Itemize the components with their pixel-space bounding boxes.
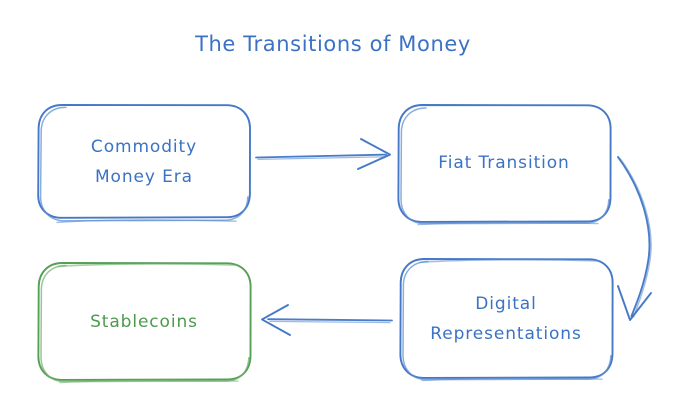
node-fiat-transition[interactable]: Fiat Transition [398,104,611,225]
connector-click-target[interactable] [254,136,394,172]
node-click-target[interactable] [38,262,251,382]
node-stablecoins[interactable]: Stablecoins [38,262,251,383]
node-click-target[interactable] [398,104,611,224]
node-commodity-money-era[interactable]: Commodity Money Era [38,104,250,222]
page-title: The Transitions of Money [194,32,471,56]
connector-fiat-to-digital[interactable] [612,150,660,326]
node-click-target[interactable] [38,104,250,222]
node-click-target[interactable] [400,258,613,378]
connector-commodity-to-fiat[interactable] [254,136,394,172]
connector-digital-to-stablecoins[interactable] [258,302,396,338]
connector-click-target[interactable] [612,150,660,326]
diagram-canvas: The Transitions of Money Commodity Money… [0,0,700,409]
connector-click-target[interactable] [258,302,396,338]
node-digital-representations[interactable]: Digital Representations [400,258,613,381]
